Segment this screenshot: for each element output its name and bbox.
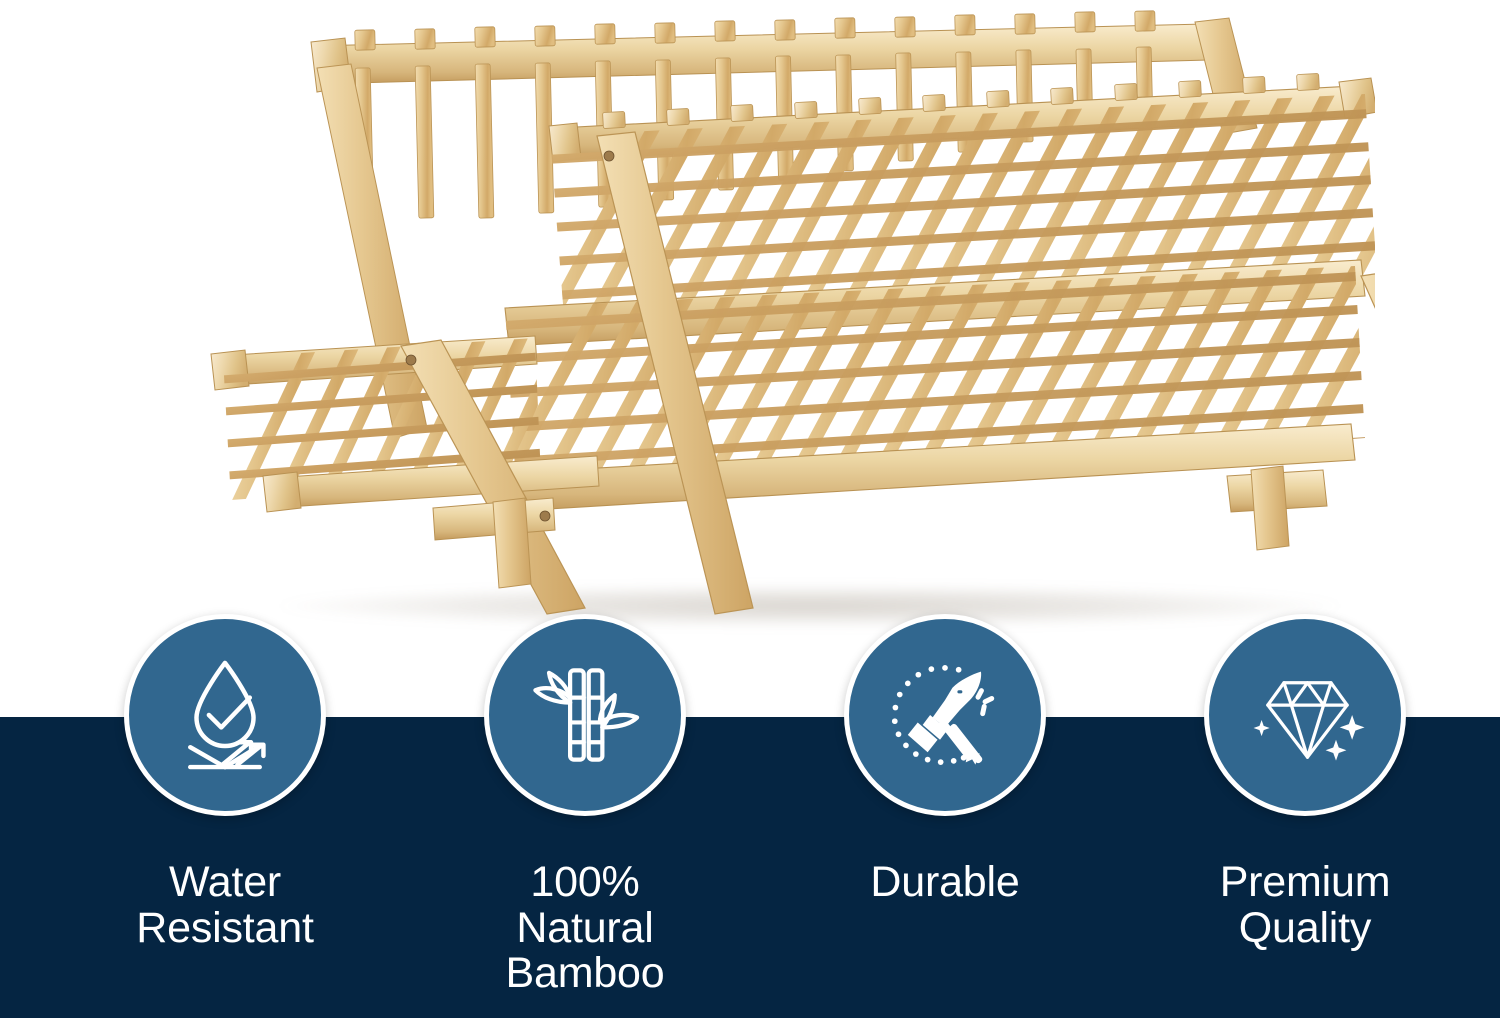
water-drop-repel-icon	[163, 653, 287, 777]
feature-banner: Water Resistant	[0, 0, 1500, 1018]
badge-circle	[484, 614, 686, 816]
feature-badge-water-resistant[interactable]: Water Resistant	[100, 614, 350, 951]
feature-label: Water Resistant	[100, 860, 350, 951]
badge-circle	[124, 614, 326, 816]
feature-label: Durable	[820, 860, 1070, 906]
feature-label: 100% Natural Bamboo	[460, 860, 710, 997]
feature-badge-row: Water Resistant	[0, 0, 1500, 1018]
badge-circle	[844, 614, 1046, 816]
hammer-impact-icon	[883, 653, 1007, 777]
bamboo-stalk-icon	[523, 653, 647, 777]
feature-badge-natural-bamboo[interactable]: 100% Natural Bamboo	[460, 614, 710, 997]
badge-circle	[1204, 614, 1406, 816]
diamond-sparkle-icon	[1243, 653, 1367, 777]
feature-badge-durable[interactable]: Durable	[820, 614, 1070, 906]
feature-badge-premium-quality[interactable]: Premium Quality	[1180, 614, 1430, 951]
feature-label: Premium Quality	[1180, 860, 1430, 951]
